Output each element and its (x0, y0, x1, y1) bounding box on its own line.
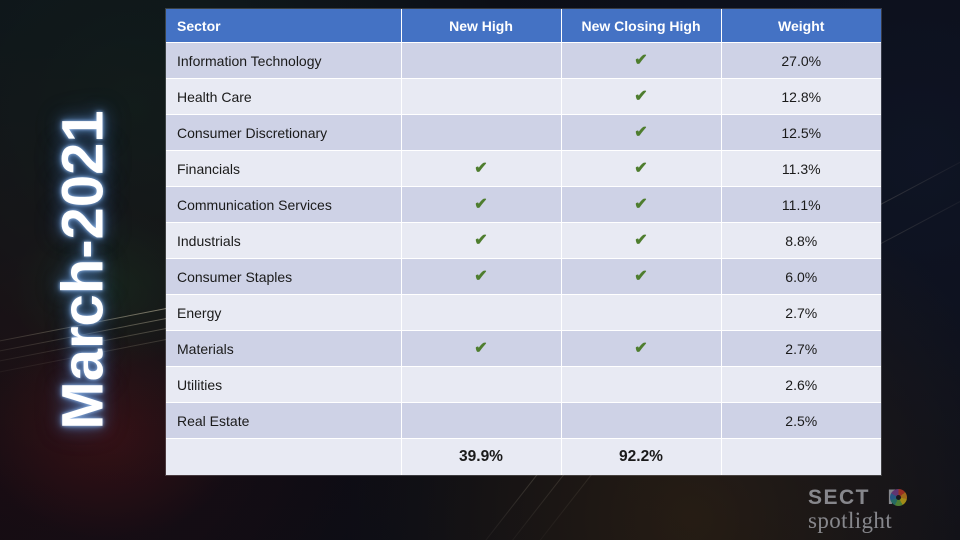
cell-new-high: ✔ (401, 151, 561, 187)
check-icon: ✔ (634, 161, 647, 177)
pie-chart-icon (890, 489, 907, 506)
cell-new-closing-high: ✔ (561, 115, 721, 151)
cell-new-closing-high (561, 295, 721, 331)
cell-sector-name: Consumer Discretionary (166, 115, 401, 151)
cell-new-high (401, 43, 561, 79)
sector-table: Sector New High New Closing High Weight … (166, 9, 881, 475)
cell-sector-name: Financials (166, 151, 401, 187)
table-body: Information Technology✔27.0%Health Care✔… (166, 43, 881, 476)
cell-new-closing-high: ✔ (561, 331, 721, 367)
vertical-title-area: March-2021 (0, 0, 165, 540)
table-row: Financials✔✔11.3% (166, 151, 881, 187)
check-icon: ✔ (474, 161, 487, 177)
cell-new-closing-high (561, 403, 721, 439)
check-icon: ✔ (634, 269, 647, 285)
cell-weight: 11.3% (721, 151, 881, 187)
cell-new-closing-high: ✔ (561, 43, 721, 79)
cell-sector-name: Information Technology (166, 43, 401, 79)
table-row: Industrials✔✔8.8% (166, 223, 881, 259)
cell-weight: 2.7% (721, 331, 881, 367)
cell-weight: 11.1% (721, 187, 881, 223)
table-row: Health Care✔12.8% (166, 79, 881, 115)
cell-new-high (401, 79, 561, 115)
cell-total-sector (166, 439, 401, 476)
check-icon: ✔ (634, 53, 647, 69)
cell-new-closing-high: ✔ (561, 187, 721, 223)
table-row: Communication Services✔✔11.1% (166, 187, 881, 223)
cell-new-closing-high: ✔ (561, 223, 721, 259)
cell-weight: 12.5% (721, 115, 881, 151)
logo-text-sect: SECT (808, 486, 870, 509)
cell-sector-name: Real Estate (166, 403, 401, 439)
table-total-row: 39.9%92.2% (166, 439, 881, 476)
table-row: Consumer Discretionary✔12.5% (166, 115, 881, 151)
check-icon: ✔ (474, 197, 487, 213)
cell-sector-name: Industrials (166, 223, 401, 259)
cell-sector-name: Communication Services (166, 187, 401, 223)
column-header-new-high[interactable]: New High (401, 9, 561, 43)
table-row: Real Estate2.5% (166, 403, 881, 439)
column-header-weight[interactable]: Weight (721, 9, 881, 43)
column-header-sector[interactable]: Sector (166, 9, 401, 43)
check-icon: ✔ (634, 89, 647, 105)
cell-new-closing-high: ✔ (561, 79, 721, 115)
cell-new-high (401, 115, 561, 151)
cell-new-closing-high (561, 367, 721, 403)
check-icon: ✔ (634, 233, 647, 249)
cell-new-high (401, 295, 561, 331)
check-icon: ✔ (634, 197, 647, 213)
logo-wordmark-top: SECTOR (808, 487, 948, 508)
check-icon: ✔ (474, 341, 487, 357)
cell-sector-name: Utilities (166, 367, 401, 403)
check-icon: ✔ (634, 125, 647, 141)
table-row: Information Technology✔27.0% (166, 43, 881, 79)
table-row: Materials✔✔2.7% (166, 331, 881, 367)
cell-new-closing-high: ✔ (561, 151, 721, 187)
cell-sector-name: Energy (166, 295, 401, 331)
cell-weight: 8.8% (721, 223, 881, 259)
cell-weight: 2.6% (721, 367, 881, 403)
sector-spotlight-logo: SECTOR spotlight (808, 487, 948, 533)
cell-new-high (401, 403, 561, 439)
logo-wordmark-bottom: spotlight (808, 509, 948, 532)
page-title: March-2021 (49, 110, 116, 429)
table-row: Energy2.7% (166, 295, 881, 331)
check-icon: ✔ (634, 341, 647, 357)
cell-sector-name: Consumer Staples (166, 259, 401, 295)
cell-sector-name: Health Care (166, 79, 401, 115)
table-row: Utilities2.6% (166, 367, 881, 403)
check-icon: ✔ (474, 233, 487, 249)
cell-weight: 2.7% (721, 295, 881, 331)
cell-weight: 2.5% (721, 403, 881, 439)
cell-new-high: ✔ (401, 331, 561, 367)
cell-new-closing-high: ✔ (561, 259, 721, 295)
cell-new-high: ✔ (401, 259, 561, 295)
cell-total-new-high: 39.9% (401, 439, 561, 476)
cell-new-high (401, 367, 561, 403)
cell-weight: 27.0% (721, 43, 881, 79)
cell-weight: 6.0% (721, 259, 881, 295)
cell-total-weight (721, 439, 881, 476)
table-header-row: Sector New High New Closing High Weight (166, 9, 881, 43)
column-header-new-closing-high[interactable]: New Closing High (561, 9, 721, 43)
cell-weight: 12.8% (721, 79, 881, 115)
cell-total-new-closing-high: 92.2% (561, 439, 721, 476)
cell-sector-name: Materials (166, 331, 401, 367)
cell-new-high: ✔ (401, 223, 561, 259)
cell-new-high: ✔ (401, 187, 561, 223)
table-row: Consumer Staples✔✔6.0% (166, 259, 881, 295)
check-icon: ✔ (474, 269, 487, 285)
